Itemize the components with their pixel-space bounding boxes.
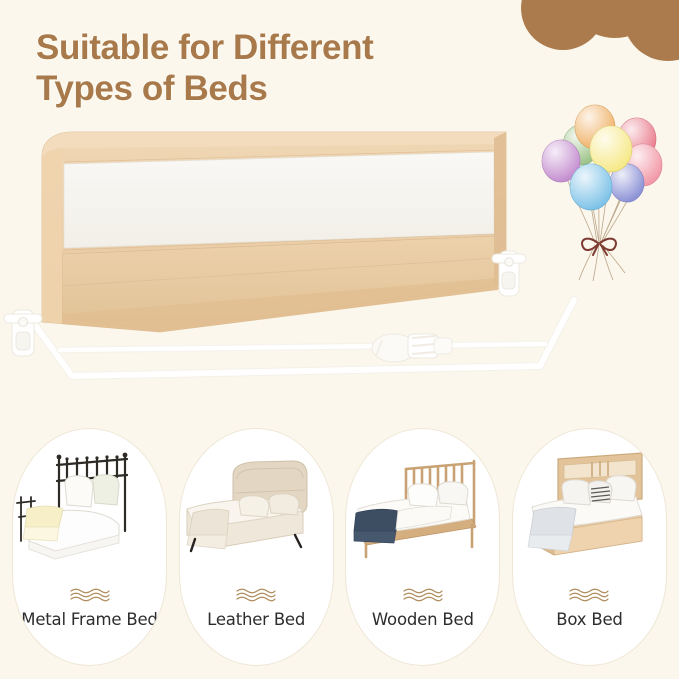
bed-type-label: Wooden Bed	[364, 610, 482, 629]
bed-type-label: Metal Frame Bed	[13, 610, 165, 629]
safety-strap	[60, 344, 545, 350]
page-title: Suitable for Different Types of Beds	[36, 27, 556, 110]
rail-panel	[42, 132, 506, 332]
bed-type-card-wooden-bed[interactable]: Wooden Bed	[345, 428, 500, 666]
wave-divider-icon	[69, 587, 111, 603]
product-feature-banner: Suitable for Different Types of Beds	[0, 0, 679, 679]
wave-divider-icon	[235, 587, 277, 603]
bed-type-label: Box Bed	[548, 610, 630, 629]
metal-frame-bed-photo	[15, 431, 165, 581]
leather-bed-photo	[181, 431, 331, 581]
bed-type-card-metal-frame-bed[interactable]: Metal Frame Bed	[12, 428, 167, 666]
wave-divider-icon	[568, 587, 610, 603]
page-title-line-1: Suitable for Different	[36, 27, 556, 68]
page-title-line-2: Types of Beds	[36, 68, 556, 109]
strap-buckle	[372, 334, 452, 362]
bed-type-card-list: Metal Frame Bed	[12, 428, 667, 668]
bed-type-card-leather-bed[interactable]: Leather Bed	[179, 428, 334, 666]
box-bed-photo	[514, 431, 664, 581]
bed-type-card-box-bed[interactable]: Box Bed	[512, 428, 667, 666]
bed-rail-product-image	[0, 118, 679, 408]
wooden-bed-photo	[348, 431, 498, 581]
wave-divider-icon	[402, 587, 444, 603]
bed-type-label: Leather Bed	[199, 610, 313, 629]
